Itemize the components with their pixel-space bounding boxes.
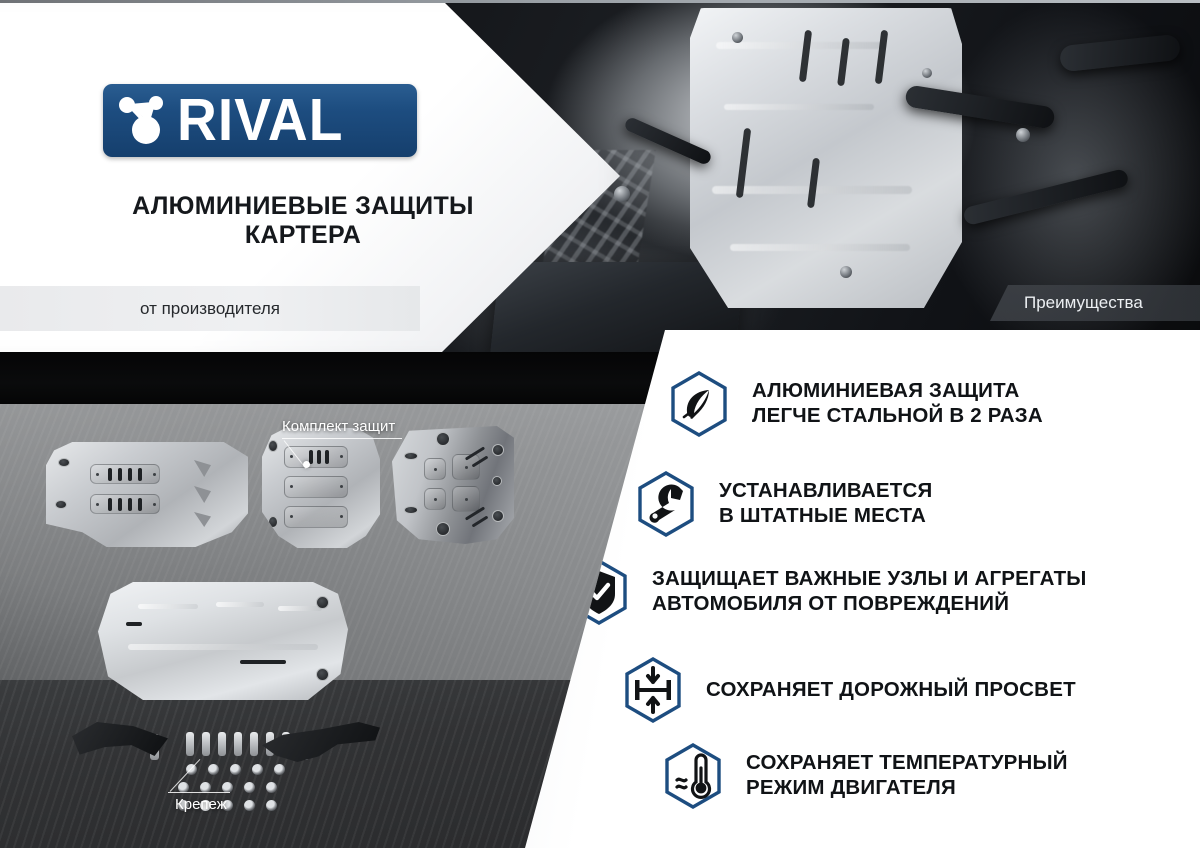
- callout-kit-underline: [282, 438, 402, 439]
- skid-plate-main: [98, 582, 348, 700]
- ground-clearance-icon: [622, 656, 684, 724]
- photo-fastener: [1016, 128, 1030, 142]
- photo-frame-rail: [1059, 34, 1181, 72]
- skid-plate-3: [392, 426, 514, 544]
- callout-fasteners-underline: [168, 792, 230, 793]
- subtitle-text: от производителя: [140, 299, 280, 319]
- callout-fasteners-label: Крепеж: [175, 796, 227, 813]
- subtitle-bar: от производителя: [0, 286, 420, 331]
- photo-skid-plate: [690, 8, 962, 308]
- wrench-icon: [635, 470, 697, 538]
- benefit-text-5: СОХРАНЯЕТ ТЕМПЕРАТУРНЫЙ РЕЖИМ ДВИГАТЕЛЯ: [746, 751, 1068, 800]
- benefit-text-4: СОХРАНЯЕТ ДОРОЖНЫЙ ПРОСВЕТ: [706, 678, 1076, 703]
- benefit-row-2: УСТАНАВЛИВАЕТСЯ В ШТАТНЫЕ МЕСТА: [635, 470, 932, 538]
- molecule-icon: [113, 88, 179, 154]
- leaf-icon: [668, 370, 730, 438]
- product-infographic-poster: Преимущества RIVAL АЛЮМИНИЕВЫЕ ЗАЩИТЫ КА…: [0, 0, 1200, 848]
- poster-top-edge: [0, 0, 1200, 3]
- benefit-text-2: УСТАНАВЛИВАЕТСЯ В ШТАТНЫЕ МЕСТА: [719, 479, 932, 528]
- rival-wordmark: RIVAL: [177, 91, 343, 150]
- skid-plate-2: [262, 428, 380, 548]
- thermometer-icon: [662, 742, 724, 810]
- benefit-row-1: АЛЮМИНИЕВАЯ ЗАЩИТА ЛЕГЧЕ СТАЛЬНОЙ В 2 РА…: [668, 370, 1043, 438]
- benefit-text-1: АЛЮМИНИЕВАЯ ЗАЩИТА ЛЕГЧЕ СТАЛЬНОЙ В 2 РА…: [752, 379, 1043, 428]
- callout-kit-dot: [303, 461, 310, 468]
- advantages-tab: Преимущества: [990, 285, 1200, 321]
- page-title: АЛЮМИНИЕВЫЕ ЗАЩИТЫ КАРТЕРА: [103, 192, 503, 250]
- photo-ball-joint: [614, 186, 630, 202]
- advantages-tab-label: Преимущества: [1024, 293, 1143, 313]
- benefit-row-5: СОХРАНЯЕТ ТЕМПЕРАТУРНЫЙ РЕЖИМ ДВИГАТЕЛЯ: [662, 742, 1068, 810]
- photo-tie-rod: [962, 168, 1129, 226]
- benefit-row-3: ЗАЩИЩАЕТ ВАЖНЫЕ УЗЛЫ И АГРЕГАТЫ АВТОМОБИ…: [568, 558, 1087, 626]
- rival-logo: RIVAL: [103, 84, 417, 157]
- callout-kit-label: Комплект защит: [282, 418, 395, 435]
- benefit-row-4: СОХРАНЯЕТ ДОРОЖНЫЙ ПРОСВЕТ: [622, 656, 1076, 724]
- benefit-text-3: ЗАЩИЩАЕТ ВАЖНЫЕ УЗЛЫ И АГРЕГАТЫ АВТОМОБИ…: [652, 567, 1087, 616]
